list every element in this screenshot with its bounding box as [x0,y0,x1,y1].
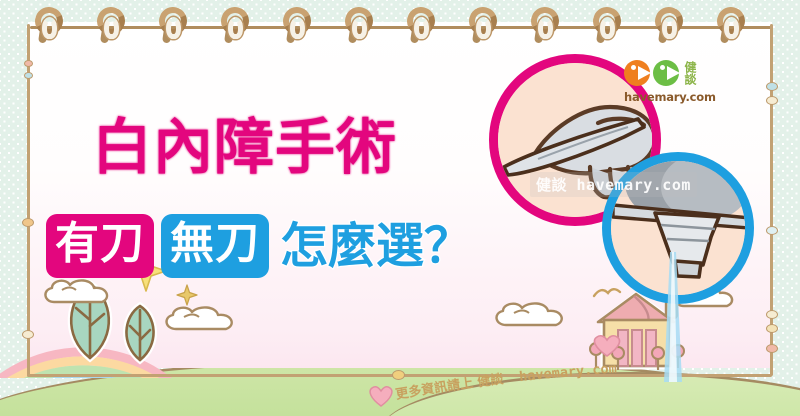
bird-icon [590,280,624,306]
heart-icon [590,332,624,358]
bead [766,226,778,235]
page-surface: 白內障手術 有刀 無刀 怎麼選？ 健談 havemary.com 健談 have… [28,22,772,368]
cloud-icon [490,298,586,332]
bead [24,60,33,67]
bead [766,324,778,333]
chip-with-blade: 有刀 [46,214,154,278]
bead [766,96,778,105]
poster-canvas: 白內障手術 有刀 無刀 怎麼選？ 健談 havemary.com 健談 have… [0,0,800,416]
watermark-text: 健談 havemary.com [530,172,697,197]
bead [766,310,778,319]
bead [22,218,34,227]
bead [766,82,778,91]
laser-beam [653,252,693,382]
spiral-ring-icon [591,5,625,45]
bead [24,72,33,79]
bead [22,330,34,339]
spiral-ring-icon [95,5,129,45]
spiral-ring-icon [529,5,563,45]
pacman-green-icon [653,60,679,86]
cloud-icon [40,276,130,310]
bead [766,344,778,353]
spiral-ring-icon [33,5,67,45]
spiral-ring-icon [405,5,439,45]
subtitle-question: 怎麼選？ [280,222,472,270]
brand-name-cjk: 健談 [684,61,695,85]
page-title: 白內障手術 [92,118,397,178]
pacman-orange-icon [624,60,650,86]
sparkle-icon [176,284,198,306]
spiral-ring-icon [157,5,191,45]
heart-icon [366,382,396,412]
spiral-ring-icon [343,5,377,45]
spiral-ring-icon [281,5,315,45]
spiral-ring-icon [219,5,253,45]
cloud-icon [160,302,256,336]
brand-logo[interactable]: 健談 havemary.com [624,58,740,104]
footer-cjk-text: 更多資訊請上 健談 [395,371,506,403]
footer-cta: 更多資訊請上 健談 havemary.com [388,366,718,406]
brand-url: havemary.com [624,90,740,104]
chip-bladeless: 無刀 [161,214,269,278]
subtitle-row: 有刀 無刀 怎麼選？ [46,214,472,278]
spiral-ring-icon [715,5,749,45]
spiral-ring-icon [467,5,501,45]
spiral-ring-icon [653,5,687,45]
